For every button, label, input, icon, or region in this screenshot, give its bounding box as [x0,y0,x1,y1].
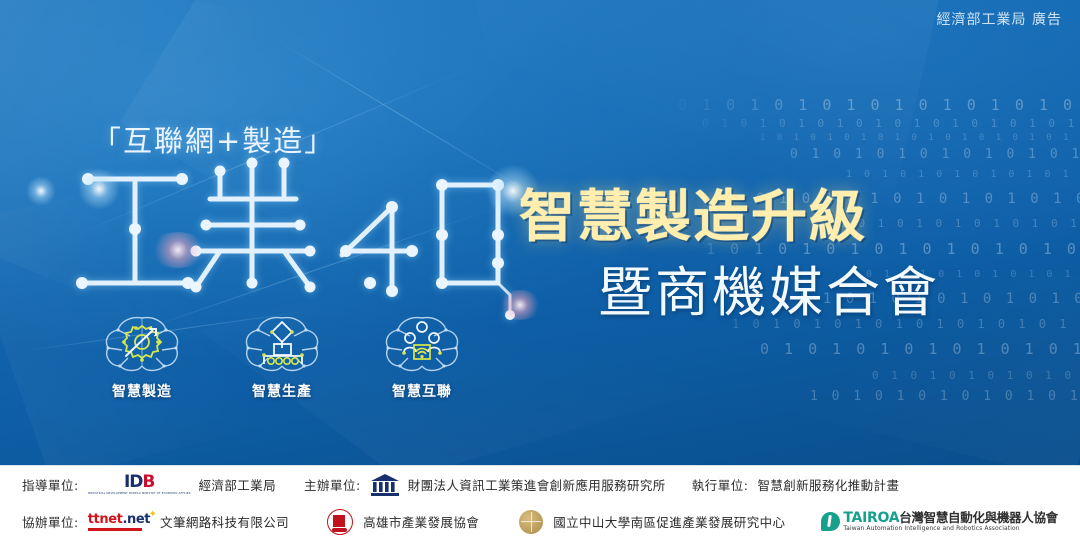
sponsor-name: 財團法人資訊工業策進會創新應用服務研究所 [408,475,666,494]
glow-accent [26,176,56,206]
gold-seal-icon [519,510,543,534]
red-seal-icon [327,509,353,535]
cosponsor-kaohsiung-assoc: 高雄市產業發展協會 [327,509,479,535]
sponsor-name: 文筆網路科技有限公司 [160,512,289,531]
binary-row: 1 0 1 0 1 0 1 0 1 0 1 0 1 0 1 0 1 0 1 0 … [760,134,1080,143]
sponsor-name: 智慧創新服務化推動計畫 [757,475,899,494]
feature-label: 智慧製造 [72,381,212,401]
brain-gear-icon [96,312,188,378]
cosponsor-ttnet: 協辦單位: ttnet.net ✦ 文筆網路科技有限公司 [22,512,289,531]
tairoa-logo: TAIROA台灣智慧自動化與機器人協會 Taiwan Automation In… [821,511,1057,532]
brain-conveyor-icon [236,312,328,378]
headline-primary: 智慧製造升級 [519,172,867,253]
feature-label: 智慧生產 [212,381,352,401]
sponsor-execution-unit: 執行單位: 智慧創新服務化推動計畫 [692,475,900,494]
ttnet-wordmark-navy: .net [122,512,150,527]
sponsor-label: 指導單位: [22,475,79,494]
feature-smart-connectivity: 智慧互聯 [352,312,492,412]
headline-secondary: 暨商機媒合會 [598,248,940,327]
feature-label: 智慧互聯 [352,381,492,401]
tairoa-name-en: TAIROA [843,510,899,526]
idb-logo-subtitle: INDUSTRIAL DEVELOPMENT BUREAU MINISTRY O… [88,493,191,496]
feature-smart-manufacturing: 智慧製造 [72,312,212,412]
sponsor-label: 主辦單位: [304,475,361,494]
sponsor-name: 國立中山大學南區促進產業發展研究中心 [553,512,785,531]
binary-row: 0 1 0 1 0 1 0 1 0 1 0 1 0 1 0 1 0 1 [678,98,1080,114]
institution-icon [370,473,400,497]
cosponsor-tairoa: TAIROA台灣智慧自動化與機器人協會 Taiwan Automation In… [821,511,1057,532]
bracket-subtitle: 「互聯網+製造」 [92,118,335,160]
binary-row: 1 0 1 0 1 0 1 0 1 0 1 0 1 0 1 0 [846,170,1080,181]
sponsor-name: 經濟部工業局 [199,475,276,494]
sponsor-label: 執行單位: [692,475,749,494]
sponsor-row-1: 指導單位: IDB INDUSTRIAL DEVELOPMENT BUREAU … [0,466,1080,503]
binary-row: 0 1 0 1 0 1 0 1 0 1 0 1 0 1 0 1 0 1 0 1 [702,118,1077,130]
binary-row: 1 0 1 0 1 0 1 0 1 0 1 0 1 0 1 [810,390,1080,404]
tairoa-tagline: Taiwan Automation Intelligence and Robot… [843,526,1057,532]
feature-smart-production: 智慧生產 [212,312,352,412]
ttnet-logo: ttnet.net ✦ [88,513,150,531]
sponsor-row-2: 協辦單位: ttnet.net ✦ 文筆網路科技有限公司 高雄市產業發展協會 [0,503,1080,540]
binary-row: 0 1 0 1 0 1 0 1 0 1 0 1 0 1 0 1 0 1 [760,342,1080,358]
sponsor-guidance-unit: 指導單位: IDB INDUSTRIAL DEVELOPMENT BUREAU … [22,474,276,496]
idb-logo: IDB INDUSTRIAL DEVELOPMENT BUREAU MINIST… [88,474,191,496]
sponsor-organizer-unit: 主辦單位: 財團法人資訊工業策進會創新應用服務研究所 [304,473,666,497]
tairoa-name-cn: 台灣智慧自動化與機器人協會 [899,510,1058,525]
sponsor-footer: 指導單位: IDB INDUSTRIAL DEVELOPMENT BUREAU … [0,465,1080,540]
sponsor-name: 高雄市產業發展協會 [363,512,479,531]
circuit-title-industry-4-0 [70,155,530,320]
ttnet-wordmark-red: ttnet [88,512,123,527]
sparkle-icon: ✦ [149,510,157,520]
advertiser-tag: 經濟部工業局 廣告 [937,9,1062,29]
promo-banner: 0 1 0 1 0 1 0 1 0 1 0 1 0 1 0 1 0 10 1 0… [0,0,1080,540]
binary-row: 0 1 0 1 0 1 0 1 0 1 0 1 0 1 0 1 0 1 [790,148,1080,162]
cosponsor-nsysu-center: 國立中山大學南區促進產業發展研究中心 [519,510,785,534]
binary-row: 0 1 0 1 0 1 0 1 0 1 0 1 [872,370,1080,382]
tairoa-leaf-icon [821,512,840,531]
brain-network-icon [376,312,468,378]
sponsor-label: 協辦單位: [22,512,79,531]
feature-icon-row: 智慧製造 [72,312,492,412]
